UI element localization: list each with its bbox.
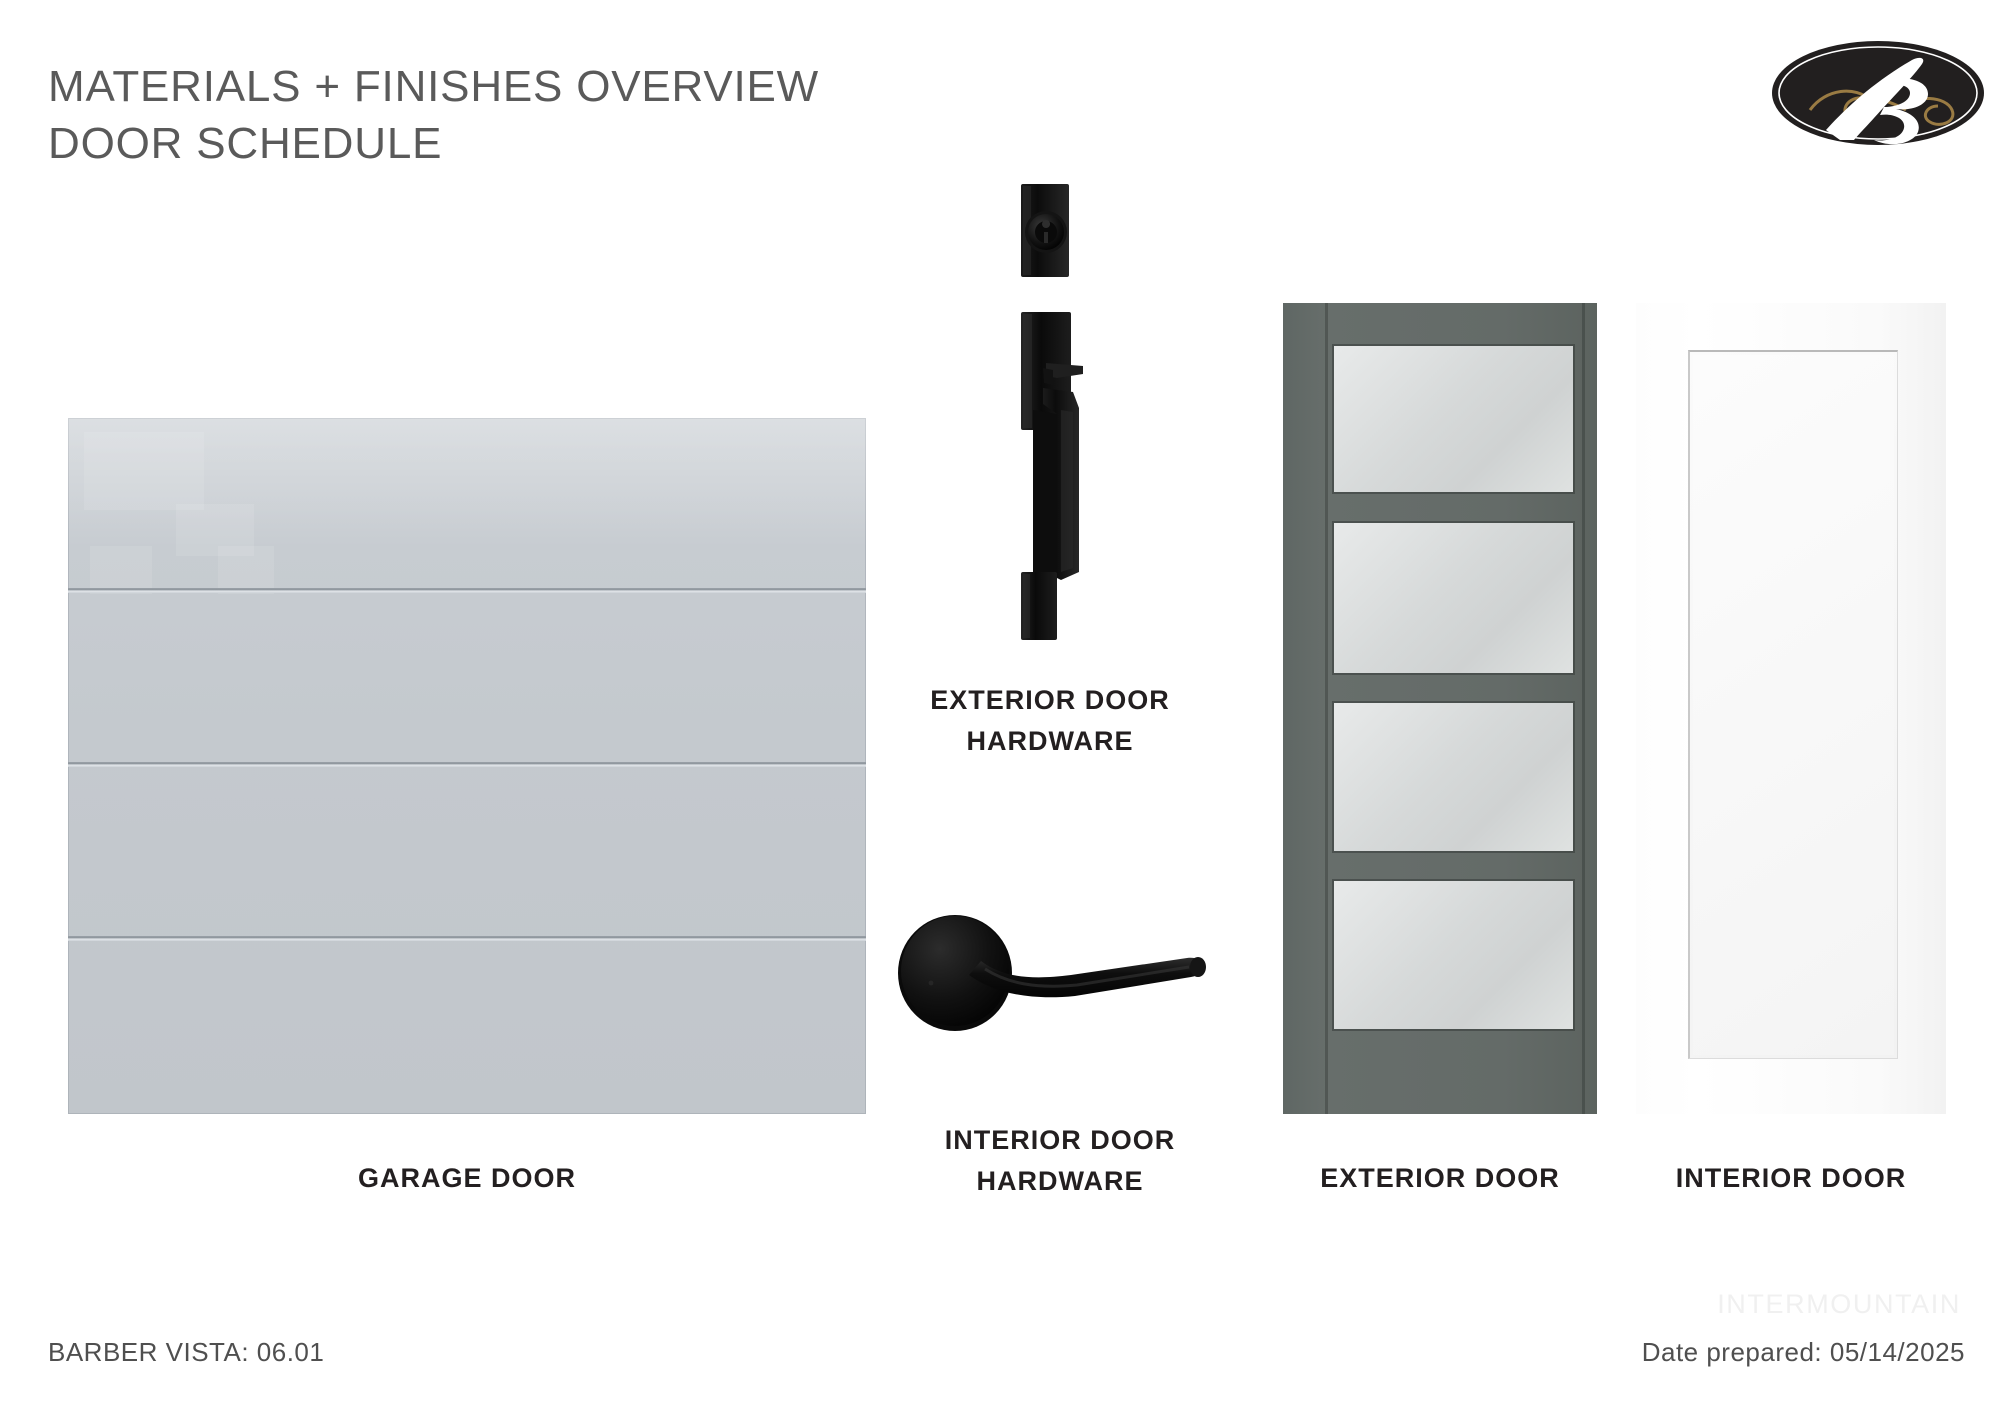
exterior-door-glass-lite-2 [1334, 523, 1573, 673]
garage-door-panel-divider-2 [68, 762, 866, 767]
page-title: MATERIALS + FINISHES OVERVIEW DOOR SCHED… [48, 58, 819, 172]
interior-door-hardware-caption: INTERIOR DOOR HARDWARE [840, 1120, 1280, 1202]
exterior-door-stile-shadow-left [1325, 303, 1328, 1114]
interior-door-shaker-panel [1688, 350, 1898, 1059]
interior-door-caption: INTERIOR DOOR [1609, 1158, 1973, 1200]
garage-door-slab [68, 418, 866, 1114]
exterior-door-caption: EXTERIOR DOOR [1258, 1158, 1622, 1200]
deadbolt-cylinder [1025, 211, 1067, 253]
exterior-door-glass-lite-3 [1334, 703, 1573, 851]
garage-door-sheen [68, 418, 866, 548]
exterior-door-glass-lite-1 [1334, 346, 1573, 492]
garage-door-panel-divider-3 [68, 936, 866, 941]
garage-door-texture-4 [218, 546, 274, 594]
exterior-door-stile-shadow-right [1582, 303, 1585, 1114]
exterior-door-hardware-caption: EXTERIOR DOOR HARDWARE [830, 680, 1270, 762]
garage-door-caption: GARAGE DOOR [68, 1158, 866, 1200]
page-title-line-2: DOOR SCHEDULE [48, 115, 819, 172]
barber-b-monogram-logo [1770, 38, 1986, 148]
interior-door-slab [1636, 303, 1946, 1114]
date-prepared: Date prepared: 05/14/2025 [1642, 1337, 1965, 1368]
interior-door-hardware-image [895, 895, 1225, 1055]
garage-door-image [68, 418, 866, 1114]
exterior-door-image [1283, 303, 1597, 1114]
interior-door-hardware-caption-line-2: HARDWARE [977, 1166, 1144, 1196]
intermountain-watermark: INTERMOUNTAIN [1717, 1289, 1961, 1320]
exterior-door-glass-lite-4 [1334, 881, 1573, 1029]
garage-door-texture-2 [176, 504, 254, 556]
handleset-base-plate [1021, 572, 1057, 640]
door-schedule-page: MATERIALS + FINISHES OVERVIEW DOOR SCHED… [0, 0, 2013, 1423]
interior-door-panel-field [1693, 355, 1894, 1055]
exterior-door-hardware-caption-line-2: HARDWARE [967, 726, 1134, 756]
interior-door-image [1636, 303, 1946, 1114]
garage-door-texture-1 [84, 432, 204, 510]
garage-door-texture-3 [90, 546, 152, 594]
interior-door-hardware-caption-line-1: INTERIOR DOOR [945, 1125, 1176, 1155]
page-title-line-1: MATERIALS + FINISHES OVERVIEW [48, 58, 819, 115]
exterior-door-slab [1283, 303, 1597, 1114]
project-code: BARBER VISTA: 06.01 [48, 1337, 324, 1368]
exterior-door-hardware-image [985, 180, 1115, 645]
handleset-grip [1033, 388, 1079, 584]
exterior-door-hardware-caption-line-1: EXTERIOR DOOR [930, 685, 1170, 715]
garage-door-panel-divider-1 [68, 588, 866, 593]
